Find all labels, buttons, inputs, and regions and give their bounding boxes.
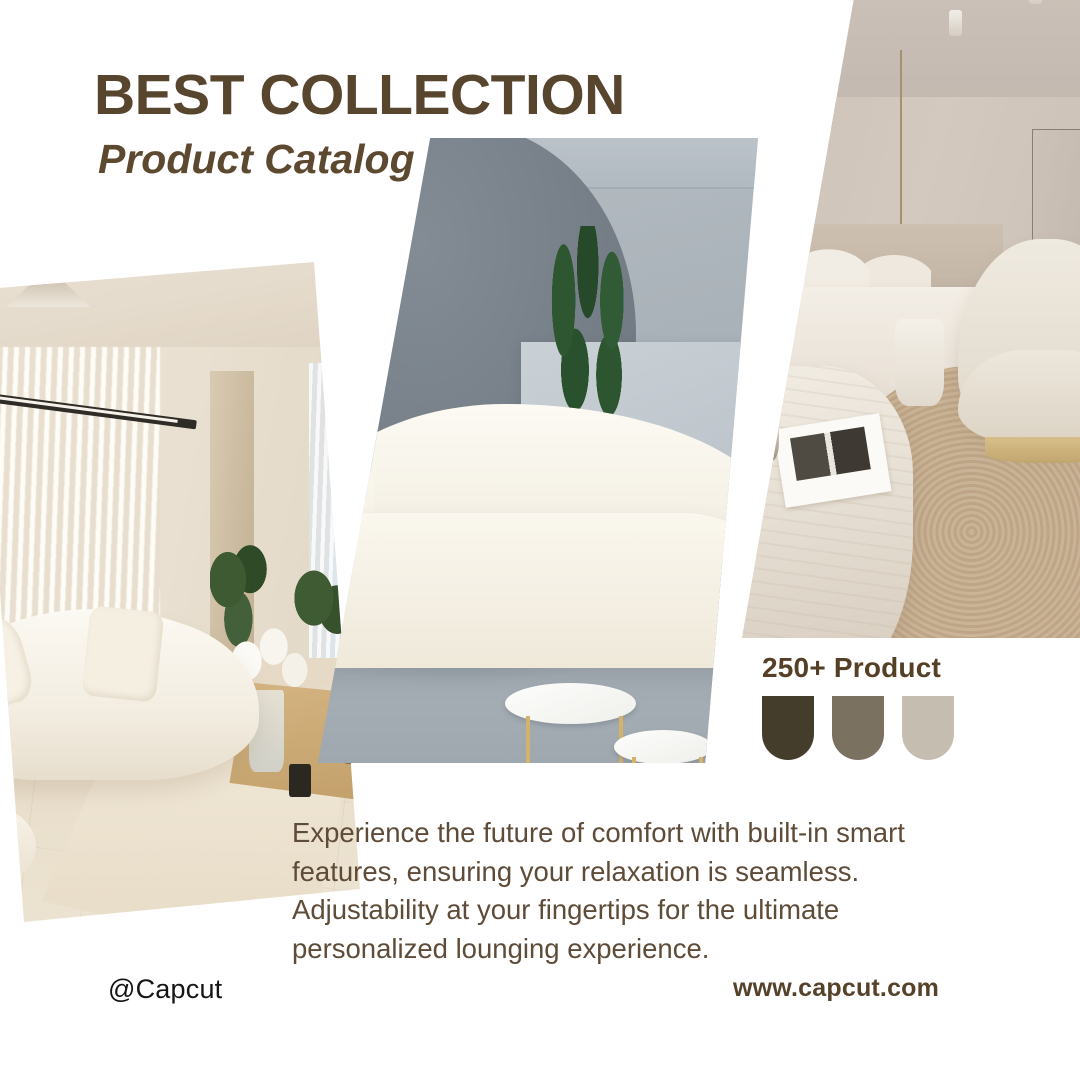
stone-coffee-table: [742, 366, 913, 638]
color-swatch-list: [762, 696, 954, 760]
page-title: BEST COLLECTION: [94, 62, 625, 128]
taupe-swatch[interactable]: [832, 696, 884, 760]
product-count-label: 250+ Product: [762, 652, 954, 684]
black-cup: [289, 764, 311, 797]
product-count-block: 250+ Product: [762, 652, 954, 760]
dried-twigs: [743, 279, 788, 374]
page-subtitle: Product Catalog: [98, 136, 415, 183]
chair-brass-base: [985, 438, 1080, 463]
ceramic-stool: [895, 319, 944, 406]
marble-side-table: [614, 730, 712, 764]
light-beige-swatch[interactable]: [902, 696, 954, 760]
studio-art: [318, 138, 758, 763]
curved-sofa: [318, 513, 758, 668]
bedroom-art: [742, 0, 1080, 638]
table-legs: [526, 716, 623, 763]
bedroom-photo: [742, 0, 1080, 638]
description-text: Experience the future of comfort with bu…: [292, 814, 964, 968]
ottoman-leg: [11, 887, 20, 922]
website-url[interactable]: www.capcut.com: [733, 974, 939, 1003]
poster-canvas: BEST COLLECTION Product Catalog: [0, 0, 1080, 1080]
studio-sofa-photo: [318, 138, 758, 763]
table-legs: [632, 757, 703, 763]
bedroom-scene: [742, 0, 1080, 638]
social-handle: @Capcut: [108, 974, 222, 1005]
ceramic-vase: [742, 359, 779, 462]
studio-scene: [318, 138, 758, 763]
spotlight-icon: [949, 10, 962, 36]
dark-brown-swatch[interactable]: [762, 696, 814, 760]
throw-pillow: [81, 605, 164, 702]
